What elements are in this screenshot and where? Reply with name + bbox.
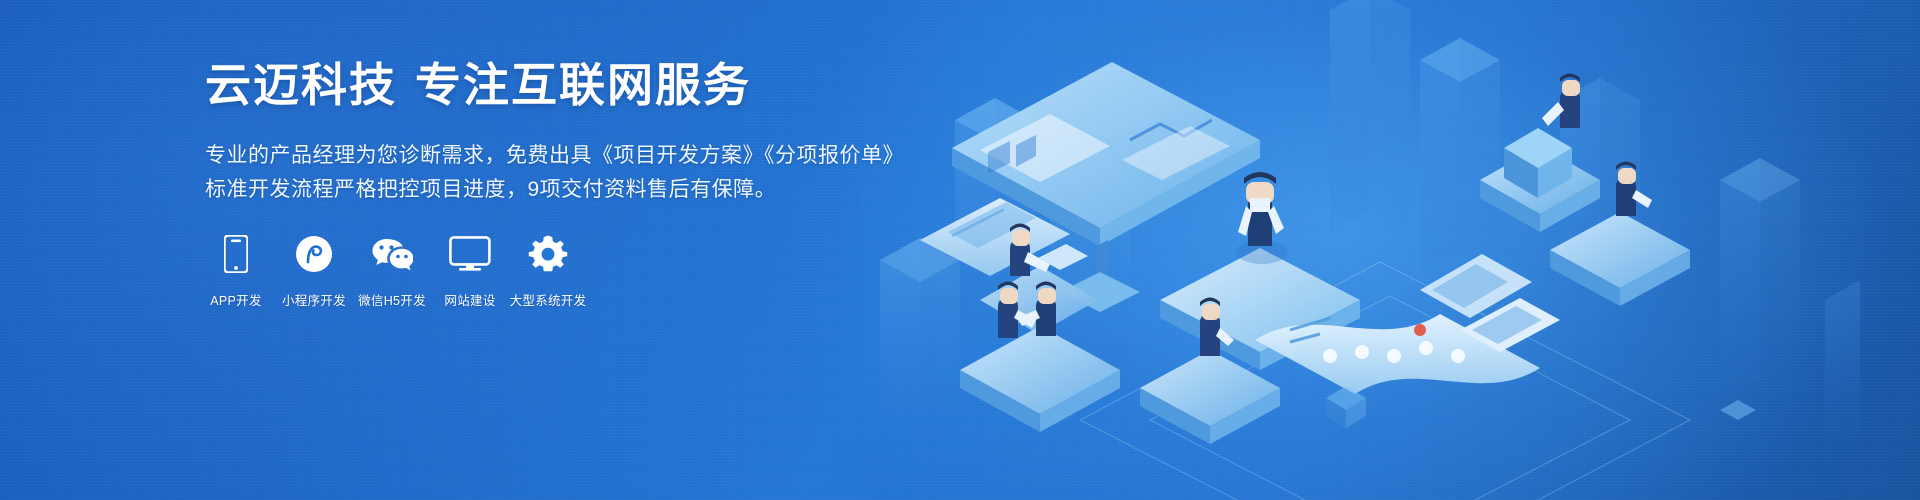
subtitle-line-1: 专业的产品经理为您诊断需求，免费出具《项目开发方案》《分项报价单》: [205, 139, 905, 173]
service-label-miniprogram: 小程序开发: [282, 290, 346, 309]
service-label-website: 网站建设: [444, 290, 495, 309]
page-title: 云迈科技专注互联网服务: [205, 60, 905, 111]
monitor-icon: [449, 232, 491, 276]
service-label-wechat: 微信H5开发: [358, 290, 426, 309]
gear-icon: [528, 232, 568, 276]
isometric-illustration: [860, 0, 1920, 500]
subtitle-line-2: 标准开发流程严格把控项目进度，9项交付资料售后有保障。: [205, 173, 905, 207]
headline-tagline: 专注互联网服务: [415, 59, 751, 111]
service-label-system: 大型系统开发: [510, 290, 587, 309]
service-list: APP开发 小程序开发 微信: [200, 232, 590, 309]
service-item-wechat[interactable]: 微信H5开发: [356, 232, 428, 309]
smartphone-icon: [224, 232, 248, 276]
service-item-website[interactable]: 网站建设: [434, 232, 506, 309]
banner-content: 云迈科技专注互联网服务 专业的产品经理为您诊断需求，免费出具《项目开发方案》《分…: [205, 60, 905, 207]
hero-banner: 云迈科技专注互联网服务 专业的产品经理为您诊断需求，免费出具《项目开发方案》《分…: [0, 0, 1920, 500]
banner-subtitle: 专业的产品经理为您诊断需求，免费出具《项目开发方案》《分项报价单》 标准开发流程…: [205, 139, 905, 207]
wechat-icon: [371, 232, 413, 276]
service-item-system[interactable]: 大型系统开发: [512, 232, 584, 309]
service-item-miniprogram[interactable]: 小程序开发: [278, 232, 350, 309]
service-label-app: APP开发: [210, 290, 262, 309]
headline-brand: 云迈科技: [205, 59, 397, 111]
service-item-app[interactable]: APP开发: [200, 232, 272, 309]
mini-program-icon: [295, 232, 333, 276]
